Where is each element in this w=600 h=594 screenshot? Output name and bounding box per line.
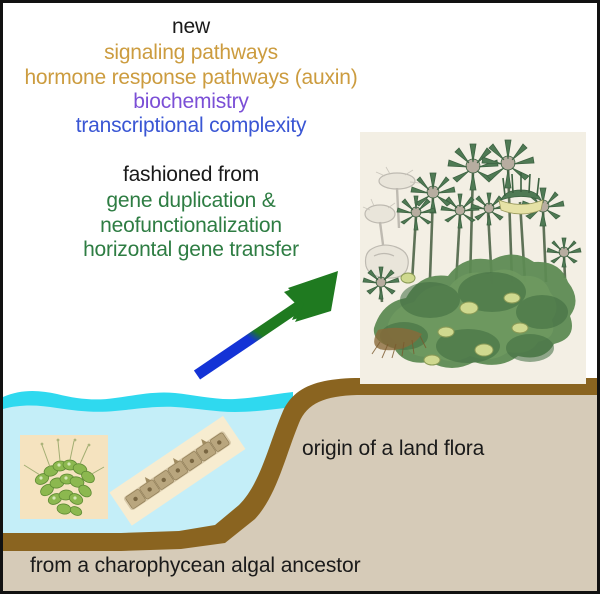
new-line-biochemistry: biochemistry bbox=[11, 90, 371, 114]
new-traits-text-block: new signaling pathways hormone response … bbox=[11, 15, 371, 139]
caption-charophycean-ancestor: from a charophycean algal ancestor bbox=[30, 554, 360, 578]
new-line-hormone-response-pathways: hormone response pathways (auxin) bbox=[11, 66, 371, 90]
mechanism-line-gene-duplication: gene duplication & bbox=[11, 189, 371, 213]
transition-arrow bbox=[188, 258, 363, 383]
new-heading: new bbox=[11, 15, 371, 41]
mechanism-line-horizontal-gene-transfer: horizontal gene transfer bbox=[11, 238, 371, 262]
new-line-transcriptional-complexity: transcriptional complexity bbox=[11, 114, 371, 138]
mechanism-line-neofunctionalization: neofunctionalization bbox=[11, 214, 371, 238]
mechanisms-text-block: fashioned from gene duplication & neofun… bbox=[11, 163, 371, 262]
new-line-signaling-pathways: signaling pathways bbox=[11, 41, 371, 65]
figure-panel: new signaling pathways hormone response … bbox=[0, 0, 600, 594]
fashioned-heading: fashioned from bbox=[11, 163, 371, 189]
marchantia-liverwort-illustration bbox=[360, 132, 586, 384]
filamentous-charophyte-micrograph bbox=[115, 415, 240, 527]
colonial-green-alga-micrograph bbox=[20, 435, 108, 519]
caption-origin-of-land-flora: origin of a land flora bbox=[302, 437, 484, 461]
